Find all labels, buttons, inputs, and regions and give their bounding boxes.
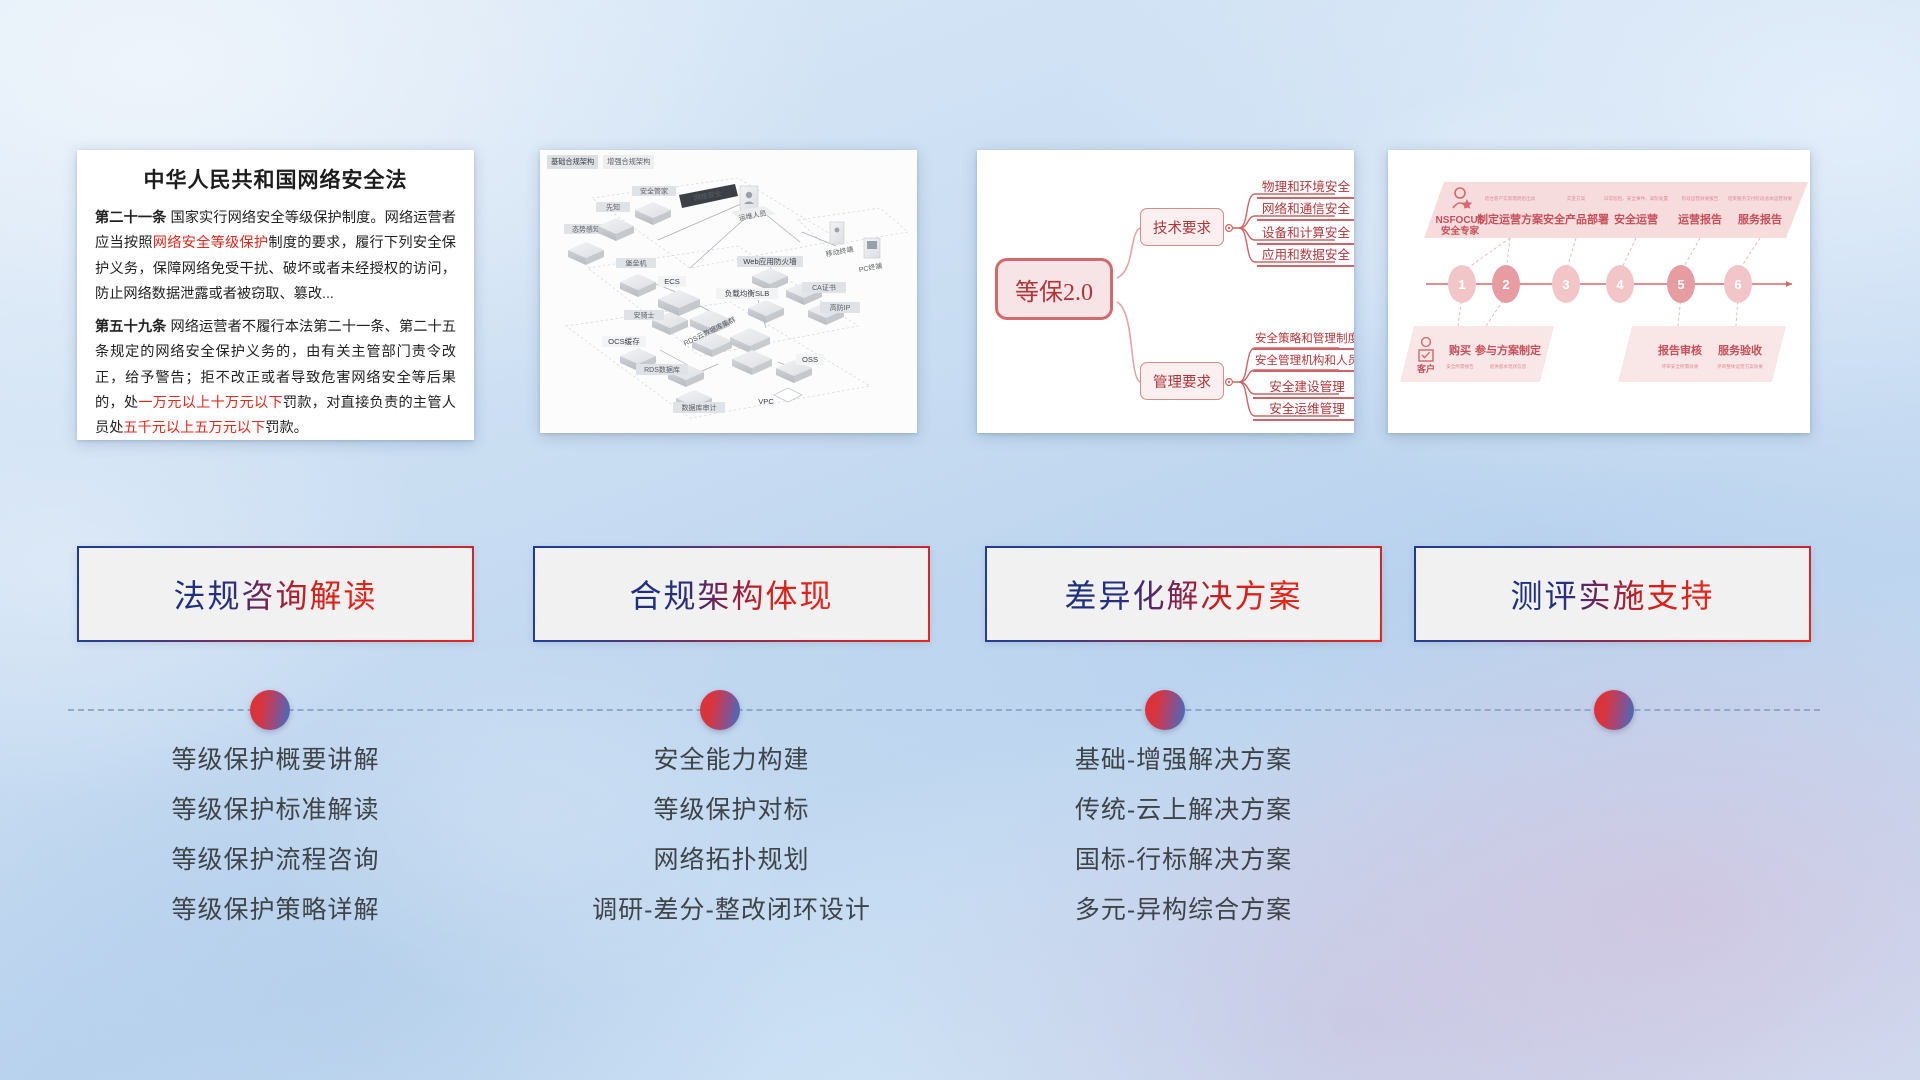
mindmap-leaf-tech-1[interactable]: 物理和环境安全 (1257, 176, 1354, 199)
mindmap: 等保2.0 技术要求 管理要求 物理和环境安全 网络和通信安全 设备和计算安全 … (977, 150, 1354, 433)
svg-text:安全产品部署: 安全产品部署 (1543, 212, 1609, 226)
svg-text:结合客户实际需明后出具: 结合客户实际需明后出具 (1485, 195, 1536, 202)
section-items-differentiated-solution: 基础-增强解决方案 传统-云上解决方案 国标-行标解决方案 多元-异构综合方案 (985, 735, 1382, 935)
mindmap-leaf-mgmt-4[interactable]: 安全运维管理 (1253, 398, 1354, 421)
section-title-label: 合规架构体现 (629, 571, 833, 617)
section-items-regulation-consulting: 等级保护概要讲解 等级保护标准解读 等级保护流程咨询 等级保护策略详解 (77, 735, 474, 935)
svg-text:安全所需报告: 安全所需报告 (1446, 363, 1474, 370)
list-item: 多元-异构综合方案 (985, 885, 1382, 935)
svg-text:评审安全所需效果: 评审安全所需效果 (1662, 363, 1699, 370)
architecture-svg: 态势感知 先知 (540, 150, 917, 433)
service-timeline: NSFOCUS 安全专家 结合客户实际需明后出具 实宣方案 日常巡检、安全事件、… (1388, 150, 1810, 433)
architecture-diagram: 基础合规架构 增强合规架构 (540, 150, 917, 433)
svg-text:高防IP: 高防IP (830, 303, 851, 312)
law-article-21: 第二十一条 国家实行网络安全等级保护制度。网络运营者应当按照网络安全等级保护制度… (95, 206, 456, 307)
law-article-59-text-c: 罚款。 (265, 420, 308, 436)
slide-stage: 中华人民共和国网络安全法 第二十一条 国家实行网络安全等级保护制度。网络运营者应… (0, 0, 1920, 1080)
law-article-21-highlight: 网络安全等级保护 (153, 235, 269, 251)
svg-text:安全运营: 安全运营 (1614, 212, 1658, 226)
list-item: 等级保护流程咨询 (77, 835, 474, 885)
svg-text:安骑士: 安骑士 (634, 311, 655, 320)
section-title-differentiated-solution[interactable]: 差异化解决方案 (985, 546, 1382, 642)
list-item: 网络拓扑规划 (533, 835, 930, 885)
svg-text:移动终端: 移动终端 (825, 244, 854, 258)
service-timeline-svg: NSFOCUS 安全专家 结合客户实际需明后出具 实宣方案 日常巡检、安全事件、… (1388, 150, 1810, 433)
law-article-21-label: 第二十一条 (95, 210, 166, 226)
mindmap-leaf-mgmt-2[interactable]: 安全管理机构和人员 (1253, 352, 1354, 372)
mindmap-root[interactable]: 等保2.0 (995, 258, 1113, 320)
list-item: 传统-云上解决方案 (985, 785, 1382, 835)
svg-text:提供基本现状信息: 提供基本现状信息 (1490, 363, 1527, 370)
svg-text:OCS缓存: OCS缓存 (608, 336, 640, 346)
svg-text:负载均衡SLB: 负载均衡SLB (725, 288, 770, 298)
timeline-dot-4[interactable] (1594, 690, 1634, 730)
section-title-label: 法规咨询解读 (173, 571, 377, 617)
svg-text:结束服务交付阶段总体运营效果: 结束服务交付阶段总体运营效果 (1728, 195, 1793, 202)
card-cybersecurity-law[interactable]: 中华人民共和国网络安全法 第二十一条 国家实行网络安全等级保护制度。网络运营者应… (77, 150, 474, 440)
mindmap-branch-technical[interactable]: 技术要求 (1140, 208, 1224, 246)
list-item: 等级保护概要讲解 (77, 735, 474, 785)
svg-text:购买: 购买 (1449, 343, 1471, 357)
svg-text:服务报告: 服务报告 (1738, 212, 1782, 226)
list-item: 基础-增强解决方案 (985, 735, 1382, 785)
svg-text:堡垒机: 堡垒机 (626, 259, 647, 268)
svg-text:VPC: VPC (758, 397, 774, 406)
section-title-regulation-consulting[interactable]: 法规咨询解读 (77, 546, 474, 642)
svg-text:1: 1 (1458, 277, 1465, 292)
section-title-label: 测评实施支持 (1510, 571, 1714, 617)
svg-text:RDS数据库: RDS数据库 (644, 365, 680, 374)
svg-text:4: 4 (1616, 277, 1624, 292)
card-compliance-architecture[interactable]: 基础合规架构 增强合规架构 (540, 150, 917, 433)
section-titles-row: 法规咨询解读 合规架构体现 差异化解决方案 测评实施支持 (0, 546, 1920, 642)
expert-role: 安全专家 (1441, 225, 1480, 237)
section-title-label: 差异化解决方案 (1064, 571, 1302, 617)
section-title-assessment-support[interactable]: 测评实施支持 (1414, 546, 1811, 642)
law-article-59-highlight-1: 一万元以上十万元以下 (138, 395, 283, 411)
list-item: 等级保护策略详解 (77, 885, 474, 935)
list-item: 国标-行标解决方案 (985, 835, 1382, 885)
timeline-dot-1[interactable] (250, 690, 290, 730)
svg-text:阶段运营效果报告: 阶段运营效果报告 (1682, 195, 1719, 202)
svg-text:Web应用防火墙: Web应用防火墙 (743, 256, 797, 266)
customer-label: 客户 (1416, 363, 1435, 374)
svg-text:6: 6 (1734, 277, 1741, 292)
cards-row: 中华人民共和国网络安全法 第二十一条 国家实行网络安全等级保护制度。网络运营者应… (0, 150, 1920, 450)
law-article-59: 第五十九条 网络运营者不履行本法第二十一条、第二十五条规定的网络安全保护义务的，… (95, 315, 456, 440)
section-title-compliance-architecture[interactable]: 合规架构体现 (533, 546, 930, 642)
list-item: 调研-差分-整改闭环设计 (533, 885, 930, 935)
timeline-dot-3[interactable] (1145, 690, 1185, 730)
svg-text:ECS: ECS (664, 277, 680, 286)
mindmap-leaf-tech-3[interactable]: 设备和计算安全 (1257, 222, 1354, 245)
mindmap-leaf-mgmt-1[interactable]: 安全策略和管理制度 (1253, 330, 1354, 350)
svg-text:2: 2 (1502, 277, 1509, 292)
svg-text:PC终端: PC终端 (858, 261, 883, 274)
timeline-dashed-line (68, 709, 1820, 711)
law-article-59-label: 第五十九条 (95, 319, 166, 335)
section-items-compliance-architecture: 安全能力构建 等级保护对标 网络拓扑规划 调研-差分-整改闭环设计 (533, 735, 930, 935)
svg-text:5: 5 (1677, 277, 1684, 292)
svg-text:OSS: OSS (802, 355, 818, 364)
card-dengbao-mindmap[interactable]: 等保2.0 技术要求 管理要求 物理和环境安全 网络和通信安全 设备和计算安全 … (977, 150, 1354, 433)
svg-text:报告审核: 报告审核 (1658, 343, 1702, 357)
svg-text:安全管家: 安全管家 (640, 187, 668, 196)
mindmap-leaf-tech-4[interactable]: 应用和数据安全 (1257, 244, 1354, 267)
list-item: 安全能力构建 (533, 735, 930, 785)
svg-text:参与方案制定: 参与方案制定 (1475, 343, 1541, 357)
mindmap-leaf-tech-2[interactable]: 网络和通信安全 (1257, 198, 1354, 221)
svg-text:运营报告: 运营报告 (1678, 212, 1722, 226)
list-item: 等级保护标准解读 (77, 785, 474, 835)
svg-text:数据库审计: 数据库审计 (682, 403, 717, 412)
svg-text:评审整体运营方案效果: 评审整体运营方案效果 (1717, 363, 1763, 370)
svg-text:日常巡检、安全事件、高阶处置: 日常巡检、安全事件、高阶处置 (1604, 195, 1669, 202)
svg-text:态势感知: 态势感知 (572, 225, 600, 234)
svg-text:先知: 先知 (606, 203, 620, 212)
timeline-dot-2[interactable] (700, 690, 740, 730)
svg-text:服务验收: 服务验收 (1718, 343, 1762, 357)
list-item: 等级保护对标 (533, 785, 930, 835)
svg-text:CA证书: CA证书 (812, 283, 836, 292)
law-title: 中华人民共和国网络安全法 (95, 164, 456, 194)
law-document: 中华人民共和国网络安全法 第二十一条 国家实行网络安全等级保护制度。网络运营者应… (77, 150, 474, 440)
timeline-axis (0, 690, 1920, 730)
svg-text:3: 3 (1562, 277, 1569, 292)
card-service-timeline[interactable]: NSFOCUS 安全专家 结合客户实际需明后出具 实宣方案 日常巡检、安全事件、… (1388, 150, 1810, 433)
svg-text:实宣方案: 实宣方案 (1567, 195, 1586, 202)
section-items-row: 等级保护概要讲解 等级保护标准解读 等级保护流程咨询 等级保护策略详解 安全能力… (0, 735, 1920, 935)
mindmap-branch-management[interactable]: 管理要求 (1140, 362, 1224, 400)
svg-text:制定运营方案: 制定运营方案 (1477, 212, 1544, 226)
mindmap-leaf-mgmt-3[interactable]: 安全建设管理 (1253, 376, 1354, 399)
law-article-59-highlight-2: 五千元以上五万元以下 (123, 420, 265, 436)
